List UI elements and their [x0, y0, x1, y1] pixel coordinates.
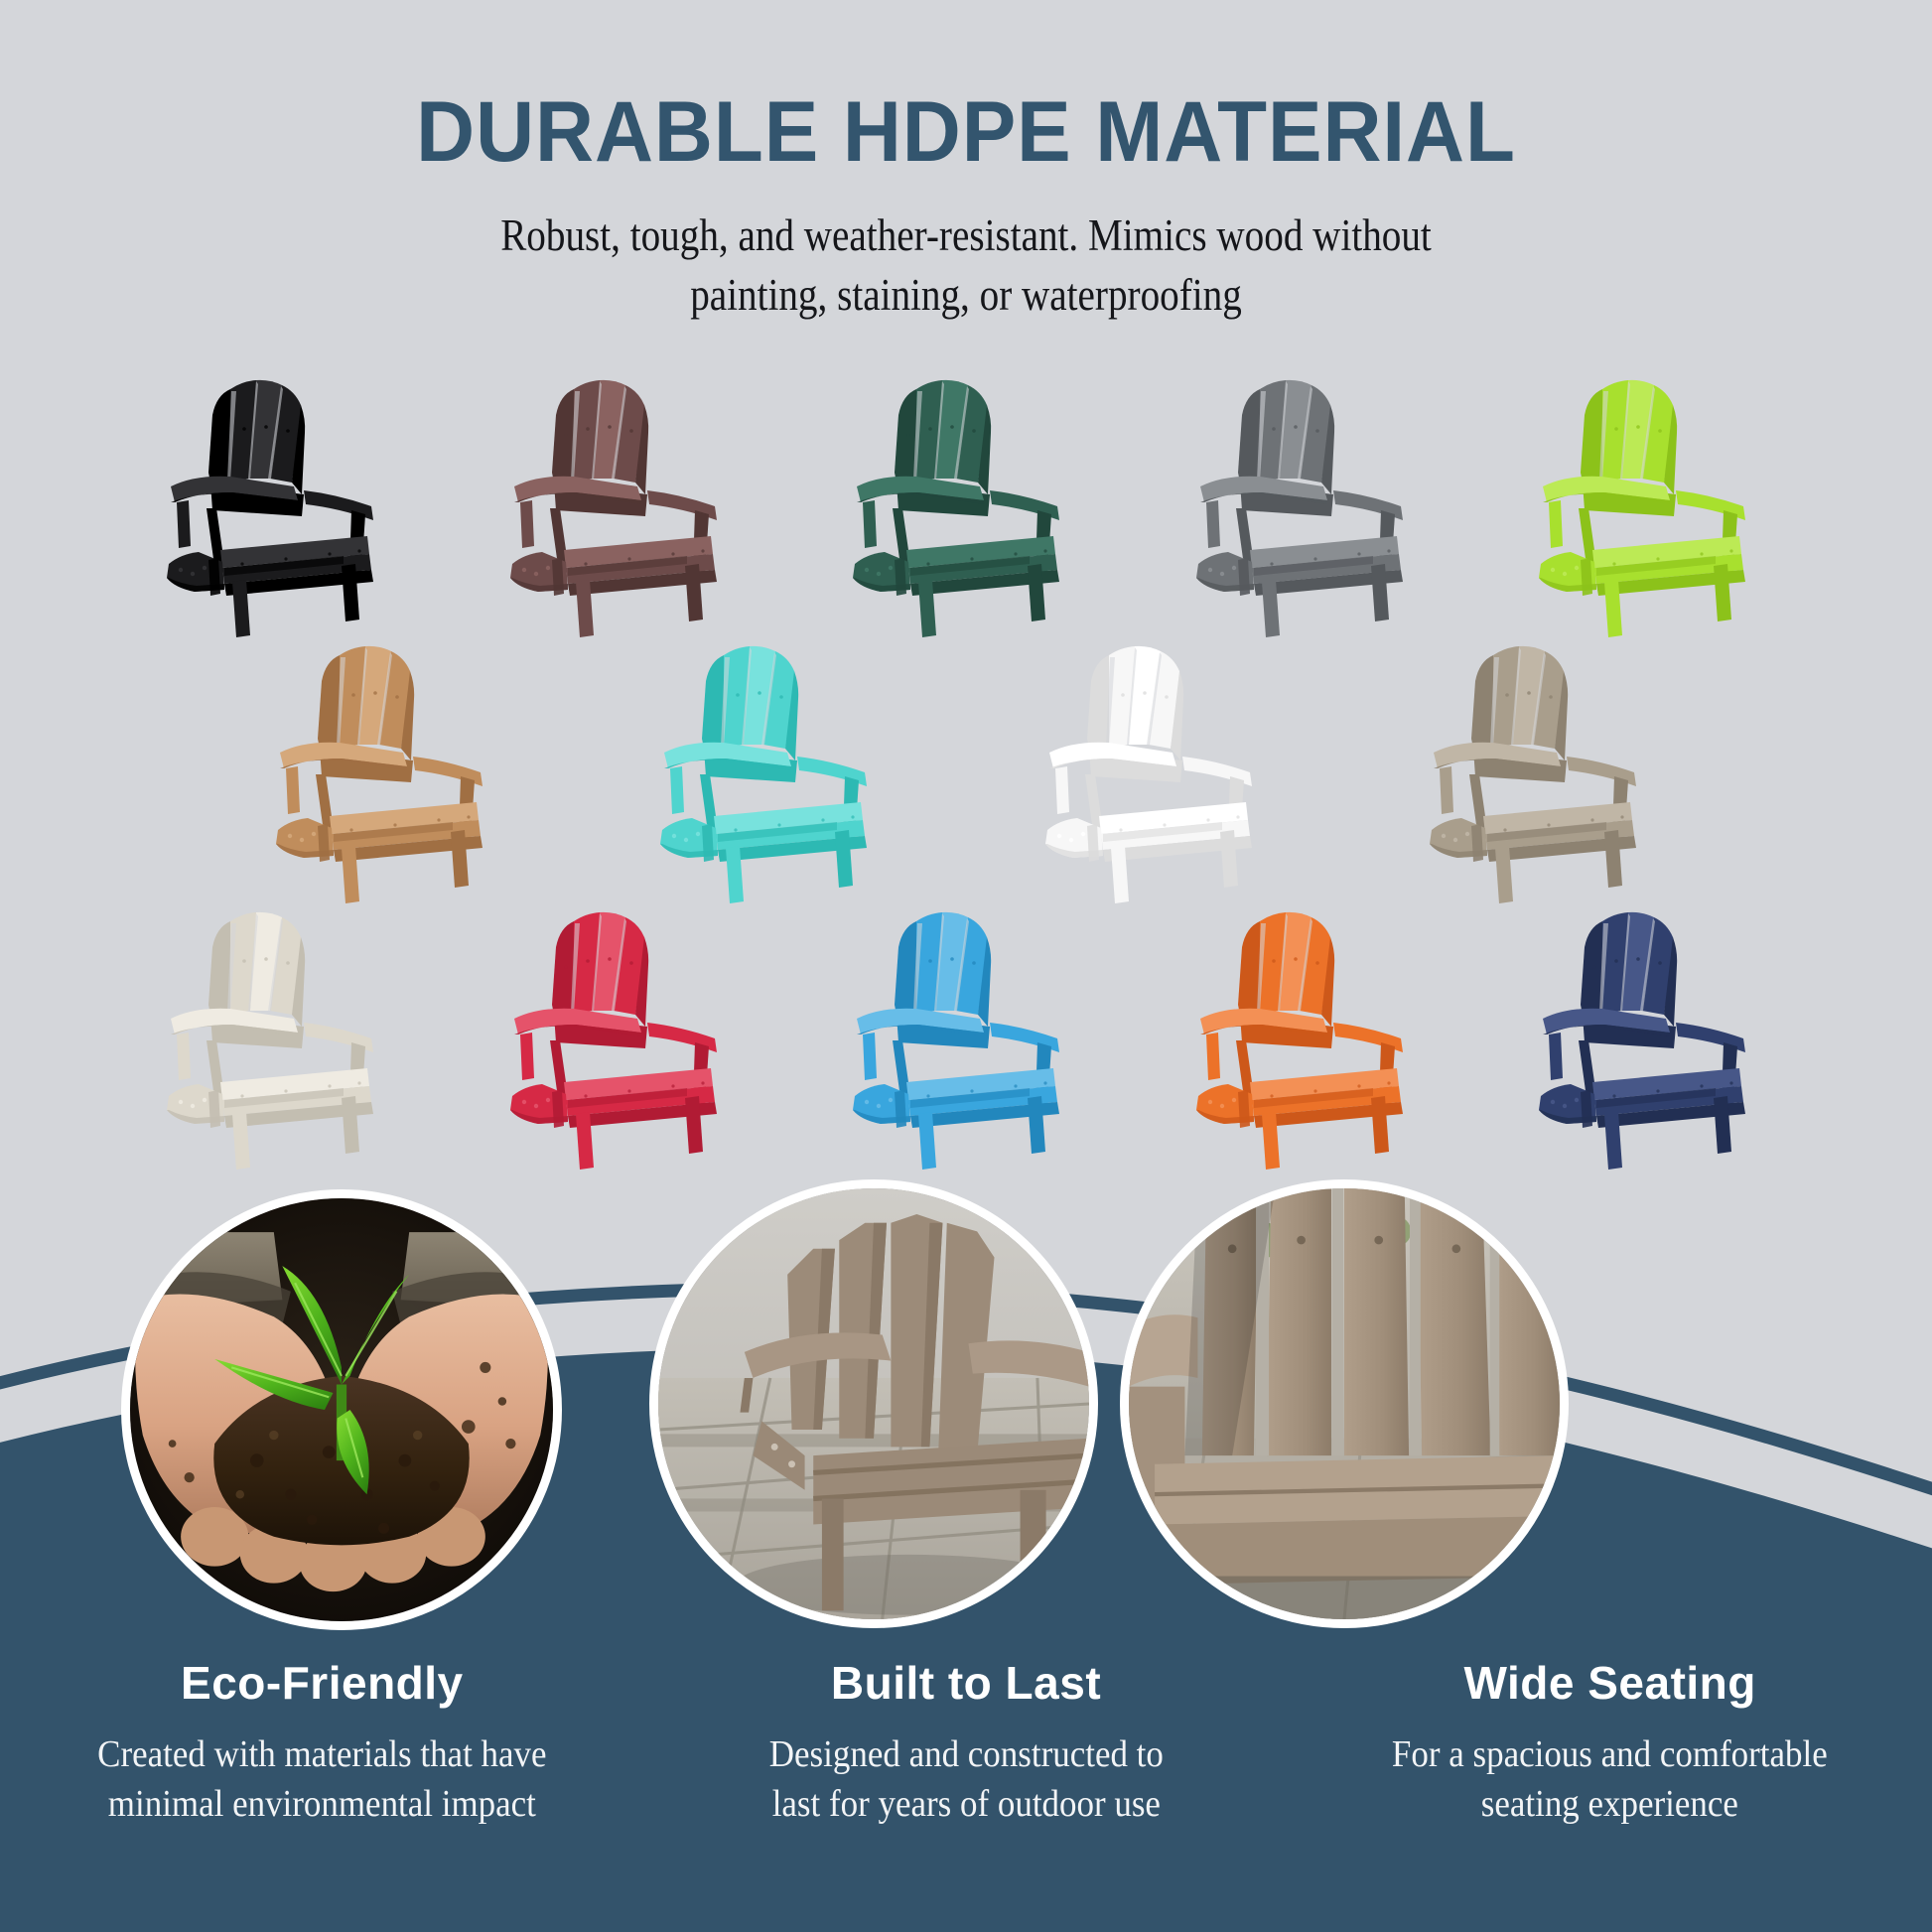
adirondack-chair-graphic	[1176, 369, 1443, 639]
chair-swatch-white[interactable]	[1026, 635, 1292, 905]
feature-desc-line-1: For a spacious and comfortable	[1330, 1729, 1890, 1779]
chair-color-row-2	[256, 635, 1676, 905]
feature-built-to-last: Built to Last Designed and constructed t…	[644, 1656, 1289, 1829]
feature-desc-line-2: seating experience	[1330, 1779, 1890, 1829]
subtitle-line-2: painting, staining, or waterproofing	[125, 266, 1806, 326]
chair-left-arm-post	[1549, 500, 1563, 548]
feature-desc-line-2: minimal environmental impact	[43, 1779, 603, 1829]
eco-friendly-photo	[121, 1189, 562, 1630]
adirondack-chair-graphic	[256, 635, 522, 905]
adirondack-chair-graphic	[640, 635, 906, 905]
chair-swatch-light-blue[interactable]	[833, 901, 1099, 1172]
chair-left-arm-post	[1206, 1033, 1220, 1080]
taupe-chair-patio-image	[658, 1188, 1089, 1619]
chair-rear-leg	[552, 1090, 564, 1128]
chair-seat-closeup-image	[1129, 1188, 1560, 1619]
chair-swatch-turquoise[interactable]	[640, 635, 906, 905]
adirondack-chair-graphic	[1026, 635, 1292, 905]
features-row: Eco-Friendly Created with materials that…	[0, 1656, 1932, 1829]
chair-swatch-black[interactable]	[147, 369, 413, 639]
feature-desc-line-1: Designed and constructed to	[686, 1729, 1246, 1779]
chair-left-arm-post	[863, 500, 877, 548]
chair-swatch-teak-tan[interactable]	[256, 635, 522, 905]
chair-left-arm-post	[1549, 1033, 1563, 1080]
chair-left-arm-post	[863, 1033, 877, 1080]
subtitle-line-1: Robust, tough, and weather-resistant. Mi…	[125, 207, 1806, 266]
chair-swatch-lime-green[interactable]	[1519, 369, 1785, 639]
chair-color-row-1	[147, 369, 1785, 639]
feature-title: Wide Seating	[1306, 1656, 1914, 1710]
chair-swatch-navy-blue[interactable]	[1519, 901, 1785, 1172]
adirondack-chair-graphic	[833, 901, 1099, 1172]
feature-description: For a spacious and comfortable seating e…	[1330, 1729, 1890, 1829]
feature-description: Designed and constructed to last for yea…	[686, 1729, 1246, 1829]
feature-desc-line-1: Created with materials that have	[43, 1729, 603, 1779]
feature-eco-friendly: Eco-Friendly Created with materials that…	[0, 1656, 644, 1829]
chair-rear-leg	[1581, 558, 1592, 596]
chair-left-arm-post	[520, 500, 534, 548]
adirondack-chair-graphic	[1176, 901, 1443, 1172]
chair-left-arm-post	[520, 1033, 534, 1080]
hands-soil-seedling-image	[130, 1198, 553, 1621]
chair-left-arm-post	[1206, 500, 1220, 548]
chair-swatch-weathered-wood[interactable]	[1410, 635, 1676, 905]
feature-title: Built to Last	[662, 1656, 1271, 1710]
feature-desc-line-2: last for years of outdoor use	[686, 1779, 1246, 1829]
chair-left-arm-post	[286, 766, 300, 814]
chair-swatch-red[interactable]	[490, 901, 757, 1172]
chair-rear-leg	[318, 824, 330, 862]
chair-rear-leg	[208, 558, 220, 596]
adirondack-chair-graphic	[490, 901, 757, 1172]
chair-swatch-ivory[interactable]	[147, 901, 413, 1172]
chair-left-arm-post	[177, 1033, 191, 1080]
chair-rear-leg	[1471, 824, 1483, 862]
adirondack-chair-graphic	[147, 901, 413, 1172]
adirondack-chair-graphic	[1519, 369, 1785, 639]
chair-rear-leg	[895, 558, 906, 596]
chair-swatch-dark-green[interactable]	[833, 369, 1099, 639]
feature-title: Eco-Friendly	[18, 1656, 626, 1710]
chair-left-arm-post	[1440, 766, 1453, 814]
chair-rear-leg	[1238, 1090, 1250, 1128]
page-subtitle: Robust, tough, and weather-resistant. Mi…	[125, 207, 1806, 326]
chair-swatch-gray[interactable]	[1176, 369, 1443, 639]
adirondack-chair-graphic	[147, 369, 413, 639]
chair-rear-leg	[895, 1090, 906, 1128]
chair-left-arm-post	[1055, 766, 1069, 814]
chair-rear-leg	[1087, 824, 1099, 862]
feature-description: Created with materials that have minimal…	[43, 1729, 603, 1829]
adirondack-chair-graphic	[1519, 901, 1785, 1172]
adirondack-chair-graphic	[833, 369, 1099, 639]
chair-rear-leg	[208, 1090, 220, 1128]
chair-swatch-orange[interactable]	[1176, 901, 1443, 1172]
chair-rear-leg	[1238, 558, 1250, 596]
chair-color-row-3	[147, 901, 1785, 1172]
chair-rear-leg	[1581, 1090, 1592, 1128]
page-title: DURABLE HDPE MATERIAL	[49, 87, 1884, 177]
chair-swatch-brown[interactable]	[490, 369, 757, 639]
feature-wide-seating: Wide Seating For a spacious and comforta…	[1288, 1656, 1932, 1829]
wide-seating-photo	[1120, 1179, 1569, 1628]
chair-rear-leg	[552, 558, 564, 596]
built-to-last-photo	[649, 1179, 1098, 1628]
adirondack-chair-graphic	[1410, 635, 1676, 905]
chair-left-arm-post	[177, 500, 191, 548]
chair-rear-leg	[702, 824, 714, 862]
adirondack-chair-graphic	[490, 369, 757, 639]
chair-left-arm-post	[670, 766, 684, 814]
header: DURABLE HDPE MATERIAL Robust, tough, and…	[0, 87, 1932, 326]
